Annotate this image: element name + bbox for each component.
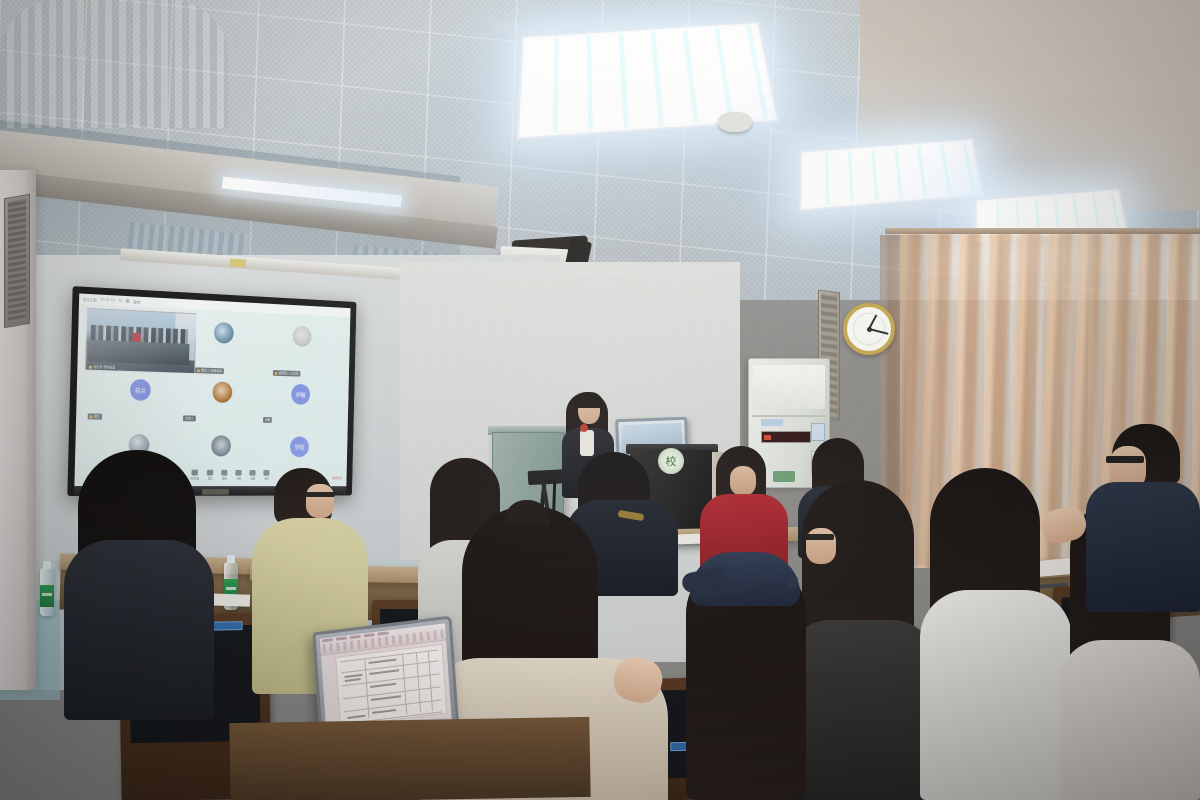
ac-label-1	[811, 423, 825, 441]
reaction-icon	[250, 470, 256, 476]
a7-cap-strap	[786, 574, 798, 588]
participant-avatar-p3[interactable]: 桂兰	[130, 379, 151, 401]
meeting-id-label: ID	[118, 299, 122, 303]
bottle-cap	[43, 561, 51, 569]
shared-tile-name-tag: 会议室-现场画面	[87, 364, 118, 371]
video-table	[88, 340, 189, 365]
chat-icon	[221, 470, 227, 476]
a1-body	[64, 540, 214, 720]
share-screen-icon	[191, 470, 197, 476]
a6-head	[730, 466, 756, 496]
ribbon-tab[interactable]	[364, 633, 375, 637]
clock-face-ticks	[852, 312, 886, 346]
table-cell-text	[369, 659, 397, 664]
a4-sweater-knit	[0, 0, 228, 128]
speaker-grill	[8, 198, 26, 323]
mic-icon	[89, 365, 92, 368]
water-bottle-1	[40, 568, 54, 616]
a9-body-puffer	[920, 590, 1072, 800]
bottle-cap	[227, 555, 235, 563]
toolbar-chat-button[interactable]: 聊天	[221, 470, 227, 481]
ac-top-panel	[753, 365, 825, 409]
a11-suit	[1086, 482, 1200, 612]
curtain-rod	[885, 228, 1200, 234]
participant-tag-p5: 伊敏	[263, 417, 272, 423]
meeting-title-label: 会议主题	[83, 296, 97, 302]
meeting-timer: 00:32:15	[101, 298, 115, 303]
participant-tag-p4: 主持人	[183, 415, 195, 421]
ribbon-tab[interactable]	[322, 638, 333, 642]
clock-hub	[867, 327, 872, 332]
mic-icon	[275, 372, 278, 375]
ac-seam	[752, 415, 826, 417]
document-data-table	[340, 649, 441, 721]
participant-tag-p2: 远程接入·分会场	[273, 370, 300, 377]
a8-body	[786, 620, 936, 800]
participant-avatar-p1[interactable]	[214, 322, 234, 344]
recording-dot-icon	[126, 299, 130, 303]
participants-icon	[207, 470, 213, 476]
a8-glasses	[804, 534, 834, 540]
leave-meeting-button[interactable]: 结束会议	[332, 476, 342, 480]
a10-body	[1060, 640, 1200, 800]
participant-avatar-p5[interactable]: 伊敏	[291, 384, 310, 405]
presenter-necklace	[580, 424, 588, 432]
a2-head	[306, 484, 334, 518]
participant-avatar-p4[interactable]	[212, 381, 232, 403]
table-cell-text	[372, 709, 396, 714]
ribbon-tab[interactable]	[350, 635, 361, 639]
a11-glasses	[1106, 456, 1144, 463]
smoke-detector-icon	[718, 112, 752, 132]
podium-emblem: 校	[658, 448, 684, 474]
ribbon-tab[interactable]	[336, 636, 347, 640]
light-louvers	[804, 142, 979, 206]
conference-room-photo: 会议主题 00:32:15 ID 录制 会议室-现场画面 参会人·远程会场	[0, 0, 1200, 800]
toolbar-more-button[interactable]: 更多	[264, 470, 270, 480]
laptop-document-page	[335, 644, 447, 727]
meeting-record-label: 录制	[133, 299, 140, 304]
toolbar-record-button[interactable]: 录制	[236, 470, 242, 481]
record-icon	[236, 470, 242, 476]
participant-avatar-p7[interactable]	[211, 435, 231, 456]
ribbon-tab[interactable]	[377, 631, 388, 635]
ac-button-strip[interactable]	[761, 419, 783, 426]
a2-glasses	[305, 492, 335, 497]
table-cell-text	[347, 715, 365, 719]
table-cell-text	[344, 674, 362, 678]
screen-brand-plate	[202, 489, 229, 495]
screen-rail-tab	[230, 258, 247, 267]
toolbar-reaction-button[interactable]: 表情	[250, 470, 256, 480]
wall-speaker-left	[4, 194, 30, 329]
foreground-desk	[229, 717, 590, 800]
toolbar-share-button[interactable]: 共享屏幕	[190, 470, 200, 481]
wall-clock	[843, 303, 895, 355]
bottle-label	[40, 585, 54, 607]
participant-avatar-p8[interactable]: 学院	[290, 436, 309, 457]
participant-avatar-p2[interactable]	[292, 326, 311, 347]
participant-tag-p1: 参会人·远程会场	[195, 367, 224, 374]
table-cell-text	[371, 695, 401, 700]
participant-tag-p3: 桂兰	[88, 413, 102, 419]
mic-icon	[90, 415, 93, 418]
table-cell-text	[345, 678, 361, 682]
toolbar-participants-button[interactable]: 成员	[207, 470, 214, 481]
table-cell-text	[369, 669, 399, 674]
mic-icon	[197, 369, 200, 372]
presenter-collar	[580, 430, 594, 456]
more-icon	[264, 470, 270, 476]
ac-brand-logo	[773, 471, 795, 482]
table-cell-text	[370, 683, 396, 688]
ac-display-panel	[761, 431, 811, 443]
